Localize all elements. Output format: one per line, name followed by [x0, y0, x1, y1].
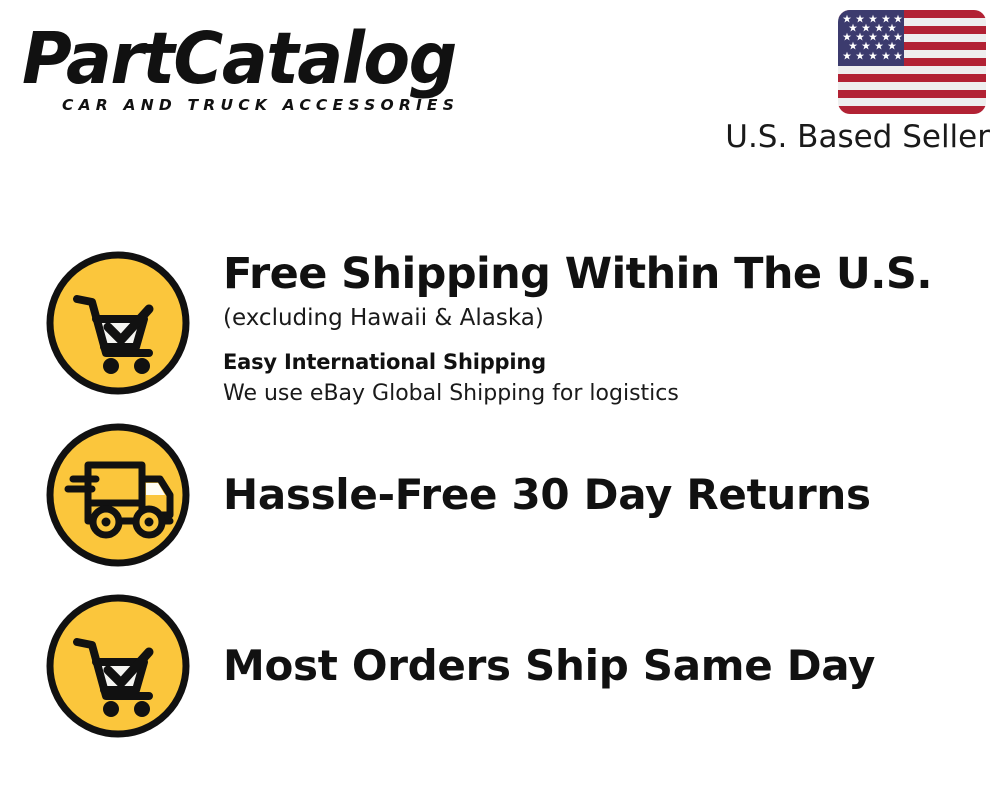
feature-subheadline: Easy International Shipping: [223, 347, 984, 377]
shopping-cart-check-icon: [44, 592, 192, 740]
feature-subline: (excluding Hawaii & Alaska): [223, 302, 984, 334]
feature-row: Most Orders Ship Same Day: [44, 592, 984, 740]
feature-text: Free Shipping Within The U.S. (excluding…: [192, 249, 984, 409]
feature-text: Hassle-Free 30 Day Returns: [192, 421, 984, 569]
feature-list: Free Shipping Within The U.S. (excluding…: [0, 0, 1000, 800]
shopping-cart-check-icon: [44, 249, 192, 397]
feature-headline: Most Orders Ship Same Day: [223, 641, 875, 691]
feature-headline: Hassle-Free 30 Day Returns: [223, 470, 871, 520]
feature-text: Most Orders Ship Same Day: [192, 592, 984, 740]
feature-headline: Free Shipping Within The U.S.: [223, 249, 984, 299]
feature-subline-secondary: We use eBay Global Shipping for logistic…: [223, 379, 984, 409]
delivery-truck-icon: [44, 421, 192, 569]
feature-row: Free Shipping Within The U.S. (excluding…: [44, 249, 984, 409]
promo-banner: PartCatalog CAR AND TRUCK ACCESSORIES: [0, 0, 1000, 800]
feature-row: Hassle-Free 30 Day Returns: [44, 421, 984, 569]
